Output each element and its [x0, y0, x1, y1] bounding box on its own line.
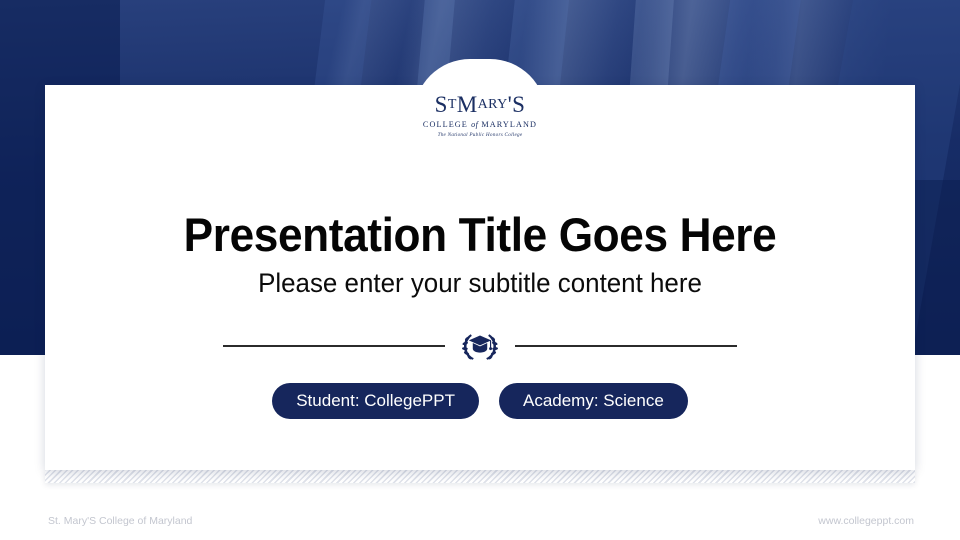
- badge-academy[interactable]: Academy: Science: [499, 383, 688, 419]
- presentation-slide: STMARY'S COLLEGE of MARYLAND The Nationa…: [0, 0, 960, 540]
- logo-tagline: The National Public Honors College: [45, 133, 915, 138]
- divider-rule-left: [223, 345, 445, 346]
- footer-institution: St. Mary'S College of Maryland: [48, 515, 192, 527]
- logo-letter-t: T: [448, 97, 457, 112]
- divider-rule-right: [515, 345, 737, 346]
- divider-with-emblem: [45, 325, 915, 367]
- badge-student[interactable]: Student: CollegePPT: [272, 383, 479, 419]
- graduation-cap-laurel-icon: [459, 325, 501, 367]
- logo-wordmark: STMARY'S: [45, 93, 915, 116]
- logo-subline: COLLEGE of MARYLAND: [45, 121, 915, 129]
- hatched-accent-strip: [45, 470, 915, 483]
- logo-subline-of: of: [471, 120, 478, 129]
- logo-letter-m: M: [457, 92, 478, 117]
- logo-subline-college: COLLEGE: [423, 120, 468, 129]
- logo-letters-apostrophe-s: 'S: [508, 92, 526, 117]
- slide-title: Presentation Title Goes Here: [71, 207, 889, 262]
- institution-logo: STMARY'S COLLEGE of MARYLAND The Nationa…: [45, 93, 915, 138]
- slide-subtitle: Please enter your subtitle content here: [62, 268, 897, 299]
- badge-group: Student: CollegePPT Academy: Science: [45, 383, 915, 419]
- content-card: STMARY'S COLLEGE of MARYLAND The Nationa…: [45, 85, 915, 470]
- footer-website: www.collegeppt.com: [818, 515, 914, 527]
- logo-letter-s: S: [435, 92, 448, 117]
- logo-letters-ary: ARY: [478, 97, 508, 112]
- logo-subline-maryland: MARYLAND: [481, 120, 537, 129]
